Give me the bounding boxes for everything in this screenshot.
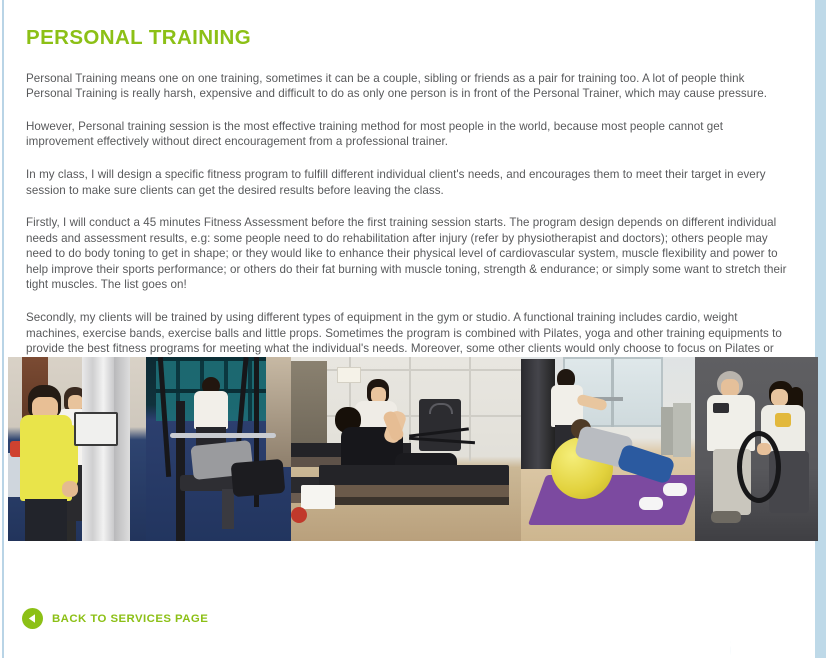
gallery-photo-3 [291,357,521,541]
gallery-photo-1 [8,357,146,541]
gallery-photo-4 [521,357,695,541]
back-to-services-label: BACK TO SERVICES PAGE [52,613,208,625]
paragraph-4: Firstly, I will conduct a 45 minutes Fit… [26,198,789,293]
paragraph-2: However, Personal training session is th… [26,102,789,150]
photo-gallery-strip [8,357,818,541]
gallery-photo-5 [695,357,818,541]
circle-arrow-left-icon[interactable] [22,608,43,629]
paragraph-1: Personal Training means one on one train… [26,50,789,102]
gallery-photo-2 [146,357,291,541]
back-to-services-link[interactable]: BACK TO SERVICES PAGE [22,608,208,629]
content-column: PERSONAL TRAINING Personal Training mean… [0,0,815,658]
paragraph-3: In my class, I will design a specific fi… [26,150,789,198]
page-root: PERSONAL TRAINING Personal Training mean… [0,0,826,658]
page-title: PERSONAL TRAINING [26,0,789,50]
